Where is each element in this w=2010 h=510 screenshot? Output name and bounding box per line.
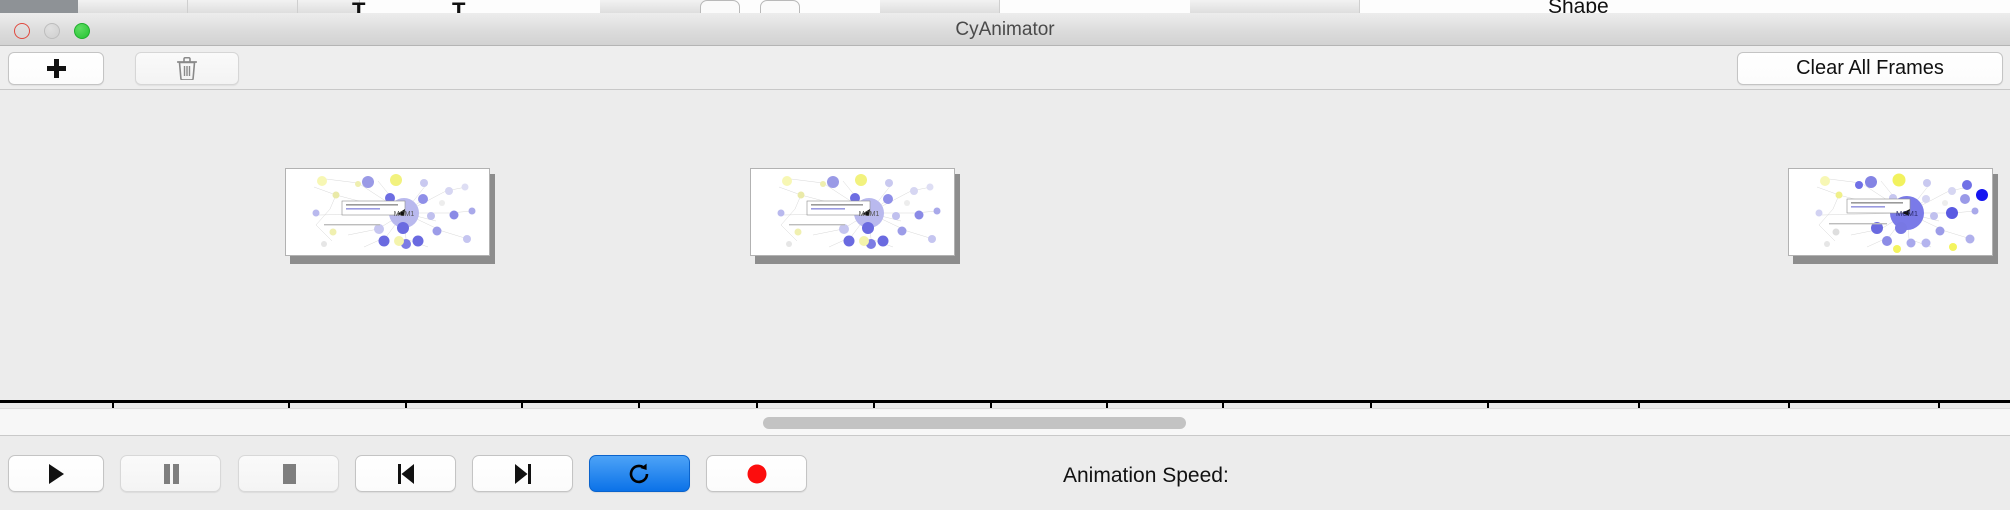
keyframe-image: MCM1 [750, 168, 955, 256]
background-segment [188, 0, 298, 13]
cyanimator-window: T T Shape CyAnimator Clear All Frames [0, 0, 2010, 510]
keyframe-image: MCM1 [285, 168, 490, 256]
background-segment [298, 0, 360, 13]
stop-button[interactable] [238, 455, 339, 492]
skip-back-icon [395, 463, 417, 485]
horizontal-scrollbar[interactable] [0, 408, 2010, 436]
stop-icon [279, 463, 299, 485]
svg-text:MCM1: MCM1 [394, 211, 415, 218]
previous-frame-button[interactable] [355, 455, 456, 492]
skip-forward-icon [512, 463, 534, 485]
loop-icon [628, 462, 652, 486]
play-icon [46, 463, 66, 485]
background-glyph: T [352, 0, 365, 13]
play-button[interactable] [8, 455, 104, 492]
keyframe-thumbnail[interactable]: MCM1 [750, 168, 958, 260]
pause-icon [161, 463, 181, 485]
trash-icon [177, 57, 197, 80]
keyframe-thumbnail[interactable]: MCM1 [1788, 168, 1996, 260]
background-segment [1190, 0, 1360, 13]
background-segment [78, 0, 188, 13]
clear-all-frames-label: Clear All Frames [1796, 57, 1944, 80]
background-segment [880, 0, 1000, 13]
title-bar: CyAnimator [0, 13, 2010, 46]
toolbar: Clear All Frames [0, 46, 2010, 90]
plus-icon [47, 59, 66, 78]
next-frame-button[interactable] [472, 455, 573, 492]
clear-all-frames-button[interactable]: Clear All Frames [1737, 52, 2003, 85]
add-frame-button[interactable] [8, 52, 104, 85]
timeline-axis [0, 400, 2010, 403]
pause-button[interactable] [120, 455, 221, 492]
network-graph: MCM1 [751, 169, 955, 256]
playback-control-bar: Animation Speed: [0, 437, 2010, 510]
animation-speed-label: Animation Speed: [1063, 464, 1229, 488]
loop-button[interactable] [589, 455, 690, 492]
svg-text:MCM1: MCM1 [859, 211, 880, 218]
svg-text:MCM1: MCM1 [1896, 209, 1918, 218]
scrollbar-thumb[interactable] [763, 417, 1186, 429]
timeline-panel[interactable]: MCM1 [0, 90, 2010, 408]
record-button[interactable] [706, 455, 807, 492]
background-dark-block [0, 0, 78, 13]
background-button [760, 0, 800, 13]
network-graph: MCM1 [1789, 169, 1993, 256]
network-graph: MCM1 [286, 169, 490, 256]
window-title: CyAnimator [0, 13, 2010, 46]
background-glyph: T [452, 0, 465, 13]
delete-frame-button[interactable] [135, 52, 239, 85]
keyframe-thumbnail[interactable]: MCM1 [285, 168, 493, 260]
background-window-label: Shape [1548, 0, 1609, 13]
background-button [700, 0, 740, 13]
background-window-strip: T T Shape [0, 0, 2010, 13]
record-icon [746, 463, 768, 485]
keyframe-image: MCM1 [1788, 168, 1993, 256]
